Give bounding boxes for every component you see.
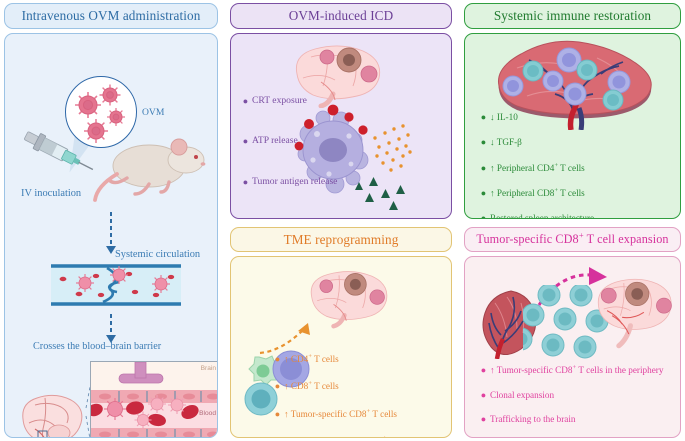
bullet-text-main: TGF-β bbox=[497, 137, 522, 147]
arrow-glyph: ↓ bbox=[490, 137, 495, 147]
list-item: ● ↑ Peripheral CD8+ T cells bbox=[479, 188, 670, 199]
bullet-text: ↑ Peripheral CD4+ T cells bbox=[490, 163, 670, 173]
list-item: ● ↑ Peripheral CD4+ T cells bbox=[479, 163, 670, 174]
list-item: ● ↑ Tumor-specific CD8+ T cells bbox=[273, 409, 441, 420]
bullet-text-main: Tumor-specific CD8 bbox=[291, 409, 367, 419]
list-item: ● Trafficking to the brain bbox=[479, 414, 668, 425]
panel-ovm-induced-icd: OVM-induced ICD bbox=[230, 3, 452, 219]
bullet-text-tail: T cells bbox=[370, 409, 397, 419]
bullet-text-main: Tumor-specific CD8 bbox=[497, 365, 573, 375]
arrow-glyph: ↑ bbox=[490, 365, 495, 375]
panel2-title: OVM-induced ICD bbox=[289, 8, 393, 24]
mouse-illustration bbox=[91, 134, 211, 206]
bullet-text: ↑ CD4+ T cells bbox=[284, 354, 441, 364]
list-item: ● ↑ Tumor-specific CD8+ T cells in the p… bbox=[479, 365, 668, 377]
bullet-text: Trafficking to the brain bbox=[490, 414, 668, 424]
list-item: ● Restored spleen architecture bbox=[479, 213, 670, 219]
bullet-text-tail: T cells bbox=[558, 163, 585, 173]
bbb-label: Crosses the blood–brain barrier bbox=[33, 341, 161, 352]
list-item: ● ↑ CD8+ T cells bbox=[273, 381, 441, 392]
bullet-text: ↑ CD8+ T cells bbox=[284, 381, 441, 391]
panel3-bullet-list: ● ↑ CD4+ T cells ● ↑ CD8+ T cells ● bbox=[231, 354, 451, 438]
brain-with-tumors-illustration bbox=[587, 275, 679, 353]
bullet-text-main: Peripheral CD8 bbox=[497, 188, 554, 198]
bullet-text: ↓ TGF-β bbox=[490, 137, 670, 147]
panel3-title: TME reprogramming bbox=[284, 232, 399, 248]
arrow-glyph: ↑ bbox=[284, 381, 289, 391]
bullet-text: Restored spleen architecture bbox=[490, 213, 670, 219]
panel-intravenous-ovm-administration: Intravenous OVM administration bbox=[4, 3, 218, 438]
arrow-glyph: ↑ bbox=[284, 436, 289, 438]
bullet-text-tail: T cells bbox=[312, 354, 339, 364]
panel-tme-reprogramming: TME reprogramming bbox=[230, 227, 452, 438]
bbb-blood-label: Blood bbox=[199, 410, 216, 417]
panel5-header: Tumor-specific CD8+ T cell expansion bbox=[464, 227, 681, 252]
bullet-text-main: CD8 bbox=[291, 381, 308, 391]
list-item: ● ↓ TGF-β bbox=[479, 137, 670, 148]
panel1-body: OVM IV inoculation bbox=[4, 33, 218, 438]
arrow-to-bbb bbox=[110, 314, 112, 336]
panel5-title: Tumor-specific CD8+ T cell expansion bbox=[476, 232, 668, 247]
bullet-dot-icon: ● bbox=[241, 96, 250, 107]
list-item: ● ↑ PD-1 expression on CD8+ T cells bbox=[273, 436, 441, 438]
arrow-glyph: ↑ bbox=[284, 354, 289, 364]
panel4-header: Systemic immune restoration bbox=[464, 3, 681, 29]
bullet-text-tail: T cells bbox=[558, 188, 585, 198]
figure-canvas: Intravenous OVM administration bbox=[0, 0, 685, 441]
panel2-body: ● CRT exposure ● ATP release ● Tumor ant… bbox=[230, 33, 452, 219]
bullet-text-tail: T cells bbox=[387, 436, 414, 438]
panel-tumor-specific-cd8-t-cell-expansion: Tumor-specific CD8+ T cell expansion bbox=[464, 227, 681, 438]
bullet-text: CRT exposure bbox=[252, 96, 441, 107]
bullet-text: ↓ IL-10 bbox=[490, 112, 670, 122]
panel4-body: ● ↓ IL-10 ● ↓ TGF-β ● ↑ bbox=[464, 33, 681, 219]
iv-inoculation-label: IV inoculation bbox=[21, 188, 81, 199]
arrow-glyph: ↑ bbox=[284, 409, 289, 419]
arrow-to-circulation bbox=[110, 212, 112, 247]
panel5-body: ● ↑ Tumor-specific CD8+ T cells in the p… bbox=[464, 256, 681, 438]
bullet-dot-icon: ● bbox=[241, 136, 250, 147]
arrow-glyph: ↑ bbox=[490, 188, 495, 198]
bullet-dot-icon: ● bbox=[479, 213, 488, 219]
bullet-dot-icon: ● bbox=[273, 381, 282, 392]
list-item: ● Tumor antigen release bbox=[241, 177, 441, 188]
bullet-text: ↑ PD-1 expression on CD8+ T cells bbox=[284, 436, 441, 438]
bullet-dot-icon: ● bbox=[479, 188, 488, 199]
list-item: ● ATP release bbox=[241, 136, 441, 147]
bullet-text: Clonal expansion bbox=[490, 390, 668, 400]
panel3-header: TME reprogramming bbox=[230, 227, 452, 252]
bullet-dot-icon: ● bbox=[479, 365, 488, 376]
bbb-diagram bbox=[91, 362, 218, 438]
bullet-dot-icon: ● bbox=[273, 436, 282, 438]
blood-vessel-illustration bbox=[51, 262, 181, 308]
syringe-icon bbox=[17, 129, 97, 179]
list-item: ● ↓ IL-10 bbox=[479, 112, 670, 123]
panel5-bullet-list: ● ↑ Tumor-specific CD8+ T cells in the p… bbox=[465, 365, 680, 432]
panel2-header: OVM-induced ICD bbox=[230, 3, 452, 29]
list-item: ● Clonal expansion bbox=[479, 390, 668, 401]
ovm-label: OVM bbox=[142, 107, 164, 118]
bbb-brain-top-label: Brain bbox=[201, 365, 216, 372]
bullet-dot-icon: ● bbox=[479, 163, 488, 174]
bullet-text: Tumor antigen release bbox=[252, 177, 441, 188]
panel4-title: Systemic immune restoration bbox=[494, 8, 651, 24]
bullet-text-tail: T cells in the periphery bbox=[576, 365, 663, 375]
bullet-text-main: IL-10 bbox=[497, 112, 518, 122]
bullet-dot-icon: ● bbox=[479, 137, 488, 148]
bullet-dot-icon: ● bbox=[479, 112, 488, 123]
bullet-dot-icon: ● bbox=[273, 409, 282, 420]
panel2-bullet-list: ● CRT exposure ● ATP release ● Tumor ant… bbox=[231, 96, 451, 195]
bullet-text-main: Peripheral CD4 bbox=[497, 163, 554, 173]
bullet-text: ↑ Tumor-specific CD8+ T cells bbox=[284, 409, 441, 419]
bullet-text: ATP release bbox=[252, 136, 441, 147]
arrow-glyph: ↑ bbox=[490, 163, 495, 173]
systemic-circulation-label: Systemic circulation bbox=[115, 249, 200, 260]
list-item: ● CRT exposure bbox=[241, 96, 441, 107]
panel5-title-tail: T cell expansion bbox=[584, 232, 669, 246]
inset-connector-lines bbox=[50, 364, 95, 438]
blood-brain-barrier-inset: Brain Blood Brain bbox=[90, 361, 218, 438]
bullet-text: ↑ Tumor-specific CD8+ T cells in the per… bbox=[490, 365, 668, 377]
panel5-title-main: Tumor-specific CD8 bbox=[476, 232, 578, 246]
bullet-text: ↑ Peripheral CD8+ T cells bbox=[490, 188, 670, 198]
list-item: ● ↑ CD4+ T cells bbox=[273, 354, 441, 365]
bullet-dot-icon: ● bbox=[241, 177, 250, 188]
bullet-text-main: PD-1 expression on CD8 bbox=[291, 436, 383, 438]
bullet-text-main: CD4 bbox=[291, 354, 308, 364]
bullet-text-tail: T cells bbox=[312, 381, 339, 391]
panel4-bullet-list: ● ↓ IL-10 ● ↓ TGF-β ● ↑ bbox=[465, 112, 680, 219]
arrow-glyph: ↓ bbox=[490, 112, 495, 122]
bullet-dot-icon: ● bbox=[479, 390, 488, 401]
bullet-dot-icon: ● bbox=[479, 414, 488, 425]
panel1-title: Intravenous OVM administration bbox=[22, 8, 201, 24]
panel-systemic-immune-restoration: Systemic immune restoration bbox=[464, 3, 681, 219]
panel1-header: Intravenous OVM administration bbox=[4, 3, 218, 29]
bullet-dot-icon: ● bbox=[273, 354, 282, 365]
panel3-body: ● ↑ CD4+ T cells ● ↑ CD8+ T cells ● bbox=[230, 256, 452, 438]
